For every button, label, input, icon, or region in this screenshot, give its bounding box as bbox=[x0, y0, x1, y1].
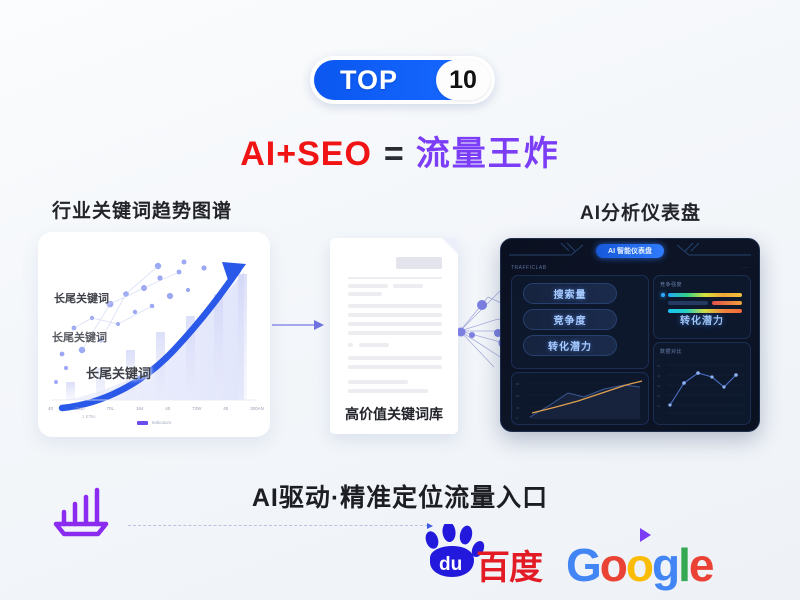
area-chart-panel: 8060300 bbox=[511, 372, 649, 425]
keyword-label-2: 长尾关键词 bbox=[52, 329, 107, 345]
doc-line bbox=[393, 284, 423, 288]
keyword-trend-card: 长尾关键词 长尾关键词 长尾关键词 40 1140 70L 184 40 72W… bbox=[38, 232, 270, 437]
line-chart-graphic: 504030 2010 bbox=[654, 343, 750, 424]
svg-text:50: 50 bbox=[657, 364, 661, 368]
google-letter-g2: g bbox=[652, 539, 678, 591]
gauge-dot bbox=[661, 293, 665, 297]
x-tick: 184 bbox=[136, 406, 144, 411]
area-chart-graphic: 8060300 bbox=[512, 373, 648, 424]
search-engine-logos: du 百度 Google bbox=[418, 524, 758, 586]
svg-text:40: 40 bbox=[657, 374, 661, 378]
top-badge-label: TOP bbox=[340, 65, 398, 96]
svg-text:10: 10 bbox=[657, 404, 661, 408]
google-wordmark: Google bbox=[566, 538, 712, 592]
keyword-label-1: 长尾关键词 bbox=[54, 290, 109, 306]
dashboard-brand: TRAFFICLAB bbox=[511, 265, 547, 271]
metric-button-search-volume[interactable]: 搜索量 bbox=[523, 283, 617, 304]
x-tick: 72W bbox=[192, 406, 201, 411]
top-badge-number: 10 bbox=[449, 66, 477, 95]
doc-line bbox=[348, 322, 442, 326]
top-rank-badge: TOP 10 bbox=[310, 56, 495, 104]
svg-text:0: 0 bbox=[516, 416, 518, 420]
doc-header-block bbox=[396, 257, 442, 269]
google-letter-o2: o bbox=[626, 539, 652, 591]
svg-text:60: 60 bbox=[516, 394, 520, 398]
bottom-tagline: AI驱动·精准定位流量入口 bbox=[0, 478, 800, 514]
doc-line bbox=[348, 356, 442, 360]
metric-button-competition[interactable]: 竞争度 bbox=[523, 309, 617, 330]
x-tick: 40 bbox=[223, 406, 228, 411]
dashboard-title-badge: AI 智能仪表盘 bbox=[596, 244, 664, 258]
doc-line bbox=[348, 304, 442, 308]
svg-text:du: du bbox=[439, 554, 462, 575]
headline-left: AI+SEO bbox=[240, 135, 372, 173]
headline-equals: = bbox=[384, 135, 404, 173]
doc-line bbox=[348, 380, 408, 384]
dashed-connector bbox=[128, 525, 428, 527]
section-title-right: AI分析仪表盘 bbox=[580, 198, 701, 225]
conversion-overlay-text: 转化潜力 bbox=[654, 312, 750, 327]
gauge-bar-2 bbox=[668, 301, 708, 305]
baidu-wordmark: 百度 bbox=[476, 540, 542, 589]
metric-button-conversion[interactable]: 转化潜力 bbox=[523, 335, 617, 356]
gauge-bar-1 bbox=[668, 293, 742, 297]
chart-legend: Indicators bbox=[38, 420, 270, 425]
legend-swatch bbox=[137, 421, 148, 425]
doc-line bbox=[348, 284, 388, 288]
svg-text:30: 30 bbox=[516, 406, 520, 410]
keyword-library-document: 高价值关键词库 bbox=[330, 238, 458, 434]
chart-x-axis-ticks: 40 1140 70L 184 40 72W 40 300AN bbox=[48, 406, 264, 411]
chart-axis-subtitle: 1 ETss bbox=[82, 414, 96, 419]
data-comparison-panel: 数据对比 504030 2010 bbox=[653, 342, 751, 425]
x-tick: 40 bbox=[165, 406, 170, 411]
document-label: 高价值关键词库 bbox=[330, 404, 458, 424]
slide-canvas: TOP 10 AI+SEO=流量王炸 行业关键词趋势图谱 AI分析仪表盘 bbox=[0, 0, 800, 600]
svg-text:20: 20 bbox=[657, 394, 661, 398]
panel-caption-competition: 竞争强度 bbox=[660, 281, 682, 288]
doc-line bbox=[348, 292, 382, 296]
x-tick: 300AN bbox=[250, 406, 264, 411]
google-letter-l: l bbox=[678, 539, 689, 591]
ai-dashboard-panel: AI 智能仪表盘 TRAFFICLAB ··· 搜索量 竞争度 转化潜力 806… bbox=[500, 238, 760, 432]
doc-line bbox=[348, 331, 442, 335]
x-tick: 40 bbox=[48, 406, 53, 411]
doc-line bbox=[348, 313, 442, 317]
page-title: AI+SEO=流量王炸 bbox=[0, 126, 800, 175]
headline-right: 流量王炸 bbox=[416, 135, 560, 173]
google-letter-g1: G bbox=[566, 539, 600, 591]
doc-line bbox=[348, 365, 442, 369]
dashboard-menu-icon[interactable]: ··· bbox=[741, 265, 750, 271]
legend-label: Indicators bbox=[152, 420, 172, 425]
top-badge-number-circle: 10 bbox=[436, 60, 490, 100]
keyword-label-3: 长尾关键词 bbox=[86, 363, 151, 382]
document-folded-corner-icon bbox=[442, 238, 458, 254]
x-tick: 70L bbox=[106, 406, 114, 411]
flow-arrow-right-icon bbox=[272, 318, 324, 332]
competition-strength-panel: 竞争强度 转化潜力 bbox=[653, 275, 751, 339]
google-letter-o1: o bbox=[600, 539, 626, 591]
doc-line bbox=[348, 389, 428, 393]
bar-chart-icon bbox=[48, 480, 114, 546]
svg-text:30: 30 bbox=[657, 384, 661, 388]
doc-line bbox=[348, 277, 442, 279]
section-title-left: 行业关键词趋势图谱 bbox=[52, 196, 232, 223]
gauge-bar-3 bbox=[712, 301, 742, 305]
doc-line bbox=[359, 343, 389, 347]
svg-text:80: 80 bbox=[516, 382, 520, 386]
google-letter-e: e bbox=[689, 539, 713, 591]
x-tick: 1140 bbox=[75, 406, 85, 411]
doc-bullet bbox=[348, 343, 353, 347]
